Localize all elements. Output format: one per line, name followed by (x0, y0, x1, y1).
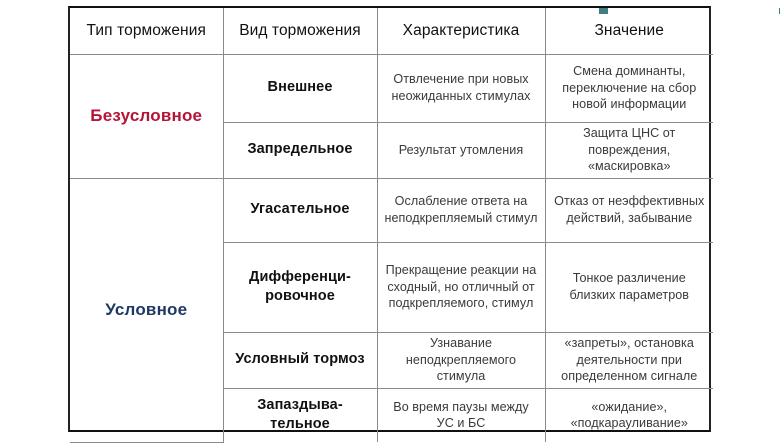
kind-transmarginal: Запредельное (223, 122, 377, 178)
kind-external: Внешнее (223, 54, 377, 122)
table-header-row: Тип торможения Вид торможения Характерис… (70, 8, 713, 54)
table-row: Условное Угасательное Ослабление ответа … (70, 178, 713, 242)
document-page: Тип торможения Вид торможения Характерис… (0, 0, 780, 439)
characteristic-extinctive: Ослабление ответа на неподкрепляемый сти… (377, 178, 545, 242)
column-header-kind: Вид торможения (223, 8, 377, 54)
kind-differential: Дифференци-ровочное (223, 242, 377, 332)
meaning-external: Смена доминанты, переключение на сбор но… (545, 54, 713, 122)
meaning-delayed: «ожидание», «подкарауливание» (545, 388, 713, 442)
table-row: Безусловное Внешнее Отвлечение при новых… (70, 54, 713, 122)
kind-delayed: Запаздыва-тельное (223, 388, 377, 442)
column-header-meaning: Значение (545, 8, 713, 54)
kind-extinctive: Угасательное (223, 178, 377, 242)
meaning-differential: Тонкое различение близких параметров (545, 242, 713, 332)
braking-types-table: Тип торможения Вид торможения Характерис… (70, 8, 713, 443)
column-header-characteristic: Характеристика (377, 8, 545, 54)
table-resize-handle-1[interactable] (599, 8, 608, 14)
column-header-type: Тип торможения (70, 8, 223, 54)
meaning-transmarginal: Защита ЦНС от повреждения, «маскировка» (545, 122, 713, 178)
group-label-conditional: Условное (70, 178, 223, 442)
meaning-extinctive: Отказ от неэффективных действий, забыван… (545, 178, 713, 242)
group-label-unconditional: Безусловное (70, 54, 223, 178)
characteristic-conditional-brake: Узнавание неподкрепляемого стимула (377, 332, 545, 388)
table-container: Тип торможения Вид торможения Характерис… (68, 6, 711, 432)
characteristic-differential: Прекращение реакции на сходный, но отлич… (377, 242, 545, 332)
characteristic-external: Отвлечение при новых неожиданных стимула… (377, 54, 545, 122)
meaning-conditional-brake: «запреты», остановка деятельности при оп… (545, 332, 713, 388)
characteristic-transmarginal: Результат утомления (377, 122, 545, 178)
characteristic-delayed: Во время паузы между УС и БС (377, 388, 545, 442)
kind-conditional-brake: Условный тормоз (223, 332, 377, 388)
